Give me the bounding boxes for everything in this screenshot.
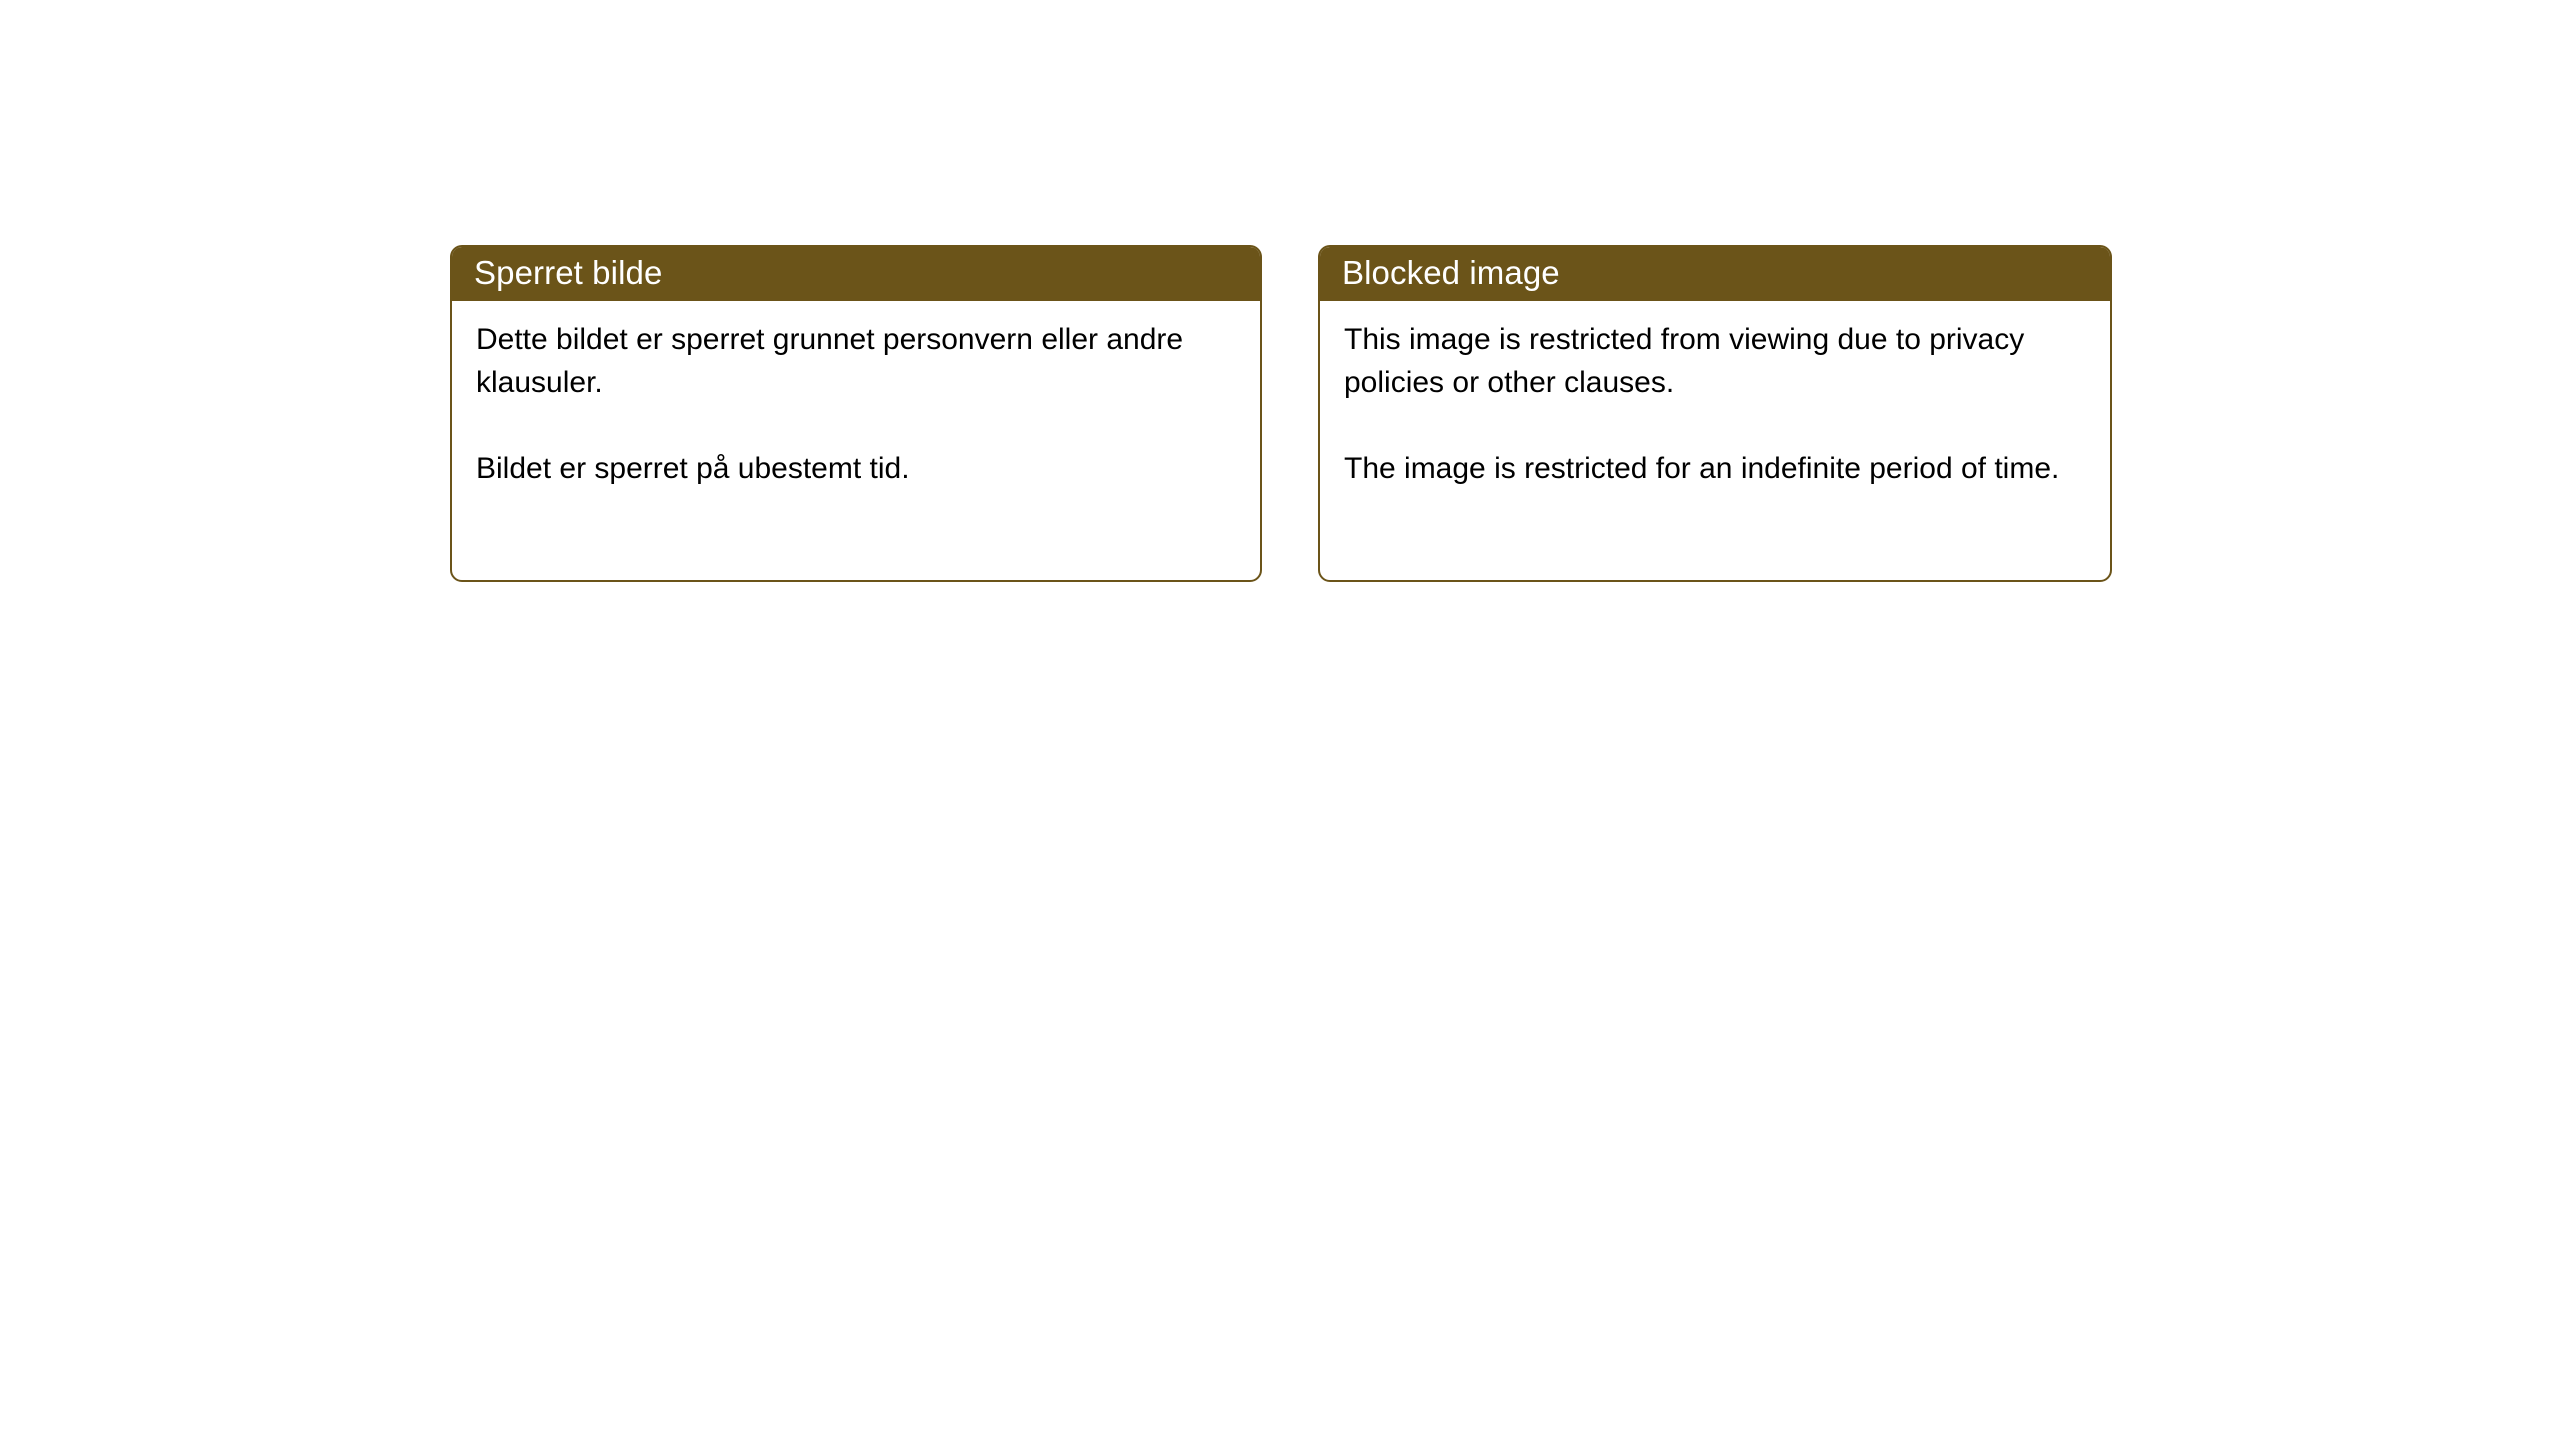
- notice-title-norwegian: Sperret bilde: [474, 254, 662, 292]
- notice-title-english: Blocked image: [1342, 254, 1560, 292]
- notice-body-norwegian: Dette bildet er sperret grunnet personve…: [452, 301, 1260, 580]
- notice-paragraph: This image is restricted from viewing du…: [1344, 318, 2088, 404]
- blocked-image-notice-card-english: Blocked image This image is restricted f…: [1318, 245, 2112, 582]
- notice-paragraph: Dette bildet er sperret grunnet personve…: [476, 318, 1238, 404]
- blocked-image-notice-card-norwegian: Sperret bilde Dette bildet er sperret gr…: [450, 245, 1262, 582]
- blocked-image-notice-group: Sperret bilde Dette bildet er sperret gr…: [450, 245, 2112, 582]
- notice-body-english: This image is restricted from viewing du…: [1320, 301, 2110, 580]
- notice-paragraph: Bildet er sperret på ubestemt tid.: [476, 447, 1238, 490]
- notice-header-english: Blocked image: [1318, 245, 2112, 301]
- notice-header-norwegian: Sperret bilde: [450, 245, 1262, 301]
- notice-paragraph: The image is restricted for an indefinit…: [1344, 447, 2088, 490]
